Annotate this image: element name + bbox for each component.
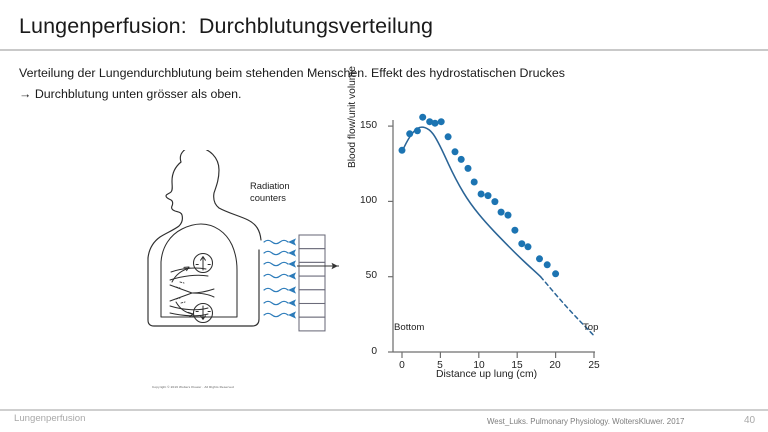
- footer-section-label: Lungenperfusion: [14, 413, 85, 424]
- radiation-counters-label-line-1: Radiation: [250, 180, 290, 192]
- footer-divider: [0, 409, 768, 411]
- title-divider: [0, 49, 768, 51]
- body-line-2: → Durchblutung unten grösser als oben.: [19, 84, 729, 105]
- body-line-1: Verteilung der Lungendurchblutung beim s…: [19, 63, 729, 84]
- chart-trend-line-solid: [402, 127, 541, 277]
- chart-data-points: [399, 114, 560, 278]
- chart-xtick-0: 0: [392, 360, 412, 371]
- footer-source-citation: West_Luks. Pulmonary Physiology. Wolters…: [487, 417, 684, 426]
- footer-page-number: 40: [744, 415, 755, 426]
- body-text: Verteilung der Lungendurchblutung beim s…: [19, 63, 729, 105]
- copyright-notice: Copyright © 2016 Wolters Kluwer · All Ri…: [152, 385, 234, 389]
- radiation-arrowheads: [288, 238, 296, 318]
- chart-annotation-top: Top: [583, 322, 598, 333]
- blood-flow-chart: [345, 112, 625, 387]
- chart-x-ticks: [402, 352, 594, 358]
- chart-ytick-100: 100: [351, 195, 377, 206]
- chart-ytick-50: 50: [351, 270, 377, 281]
- chart-xtick-25: 25: [584, 360, 604, 371]
- radiation-arrows-group: [264, 238, 296, 318]
- radiation-counters-label-line-2: counters: [250, 192, 290, 204]
- slide: Lungenperfusion: Durchblutungsverteilung…: [0, 0, 768, 432]
- chart-y-axis-label: Blood flow/unit volume: [347, 66, 358, 168]
- chart-y-ticks: [388, 126, 393, 352]
- radiation-counters-label: Radiation counters: [250, 180, 290, 203]
- human-figure-outline: [148, 150, 261, 326]
- chart-xtick-20: 20: [545, 360, 565, 371]
- radiation-counter-stack: [299, 235, 325, 331]
- chart-ytick-0: 0: [351, 346, 377, 357]
- lung-perfusion-diagram: [140, 150, 345, 350]
- page-title: Lungenperfusion: Durchblutungsverteilung: [19, 14, 433, 39]
- chart-x-axis-label: Distance up lung (cm): [436, 369, 537, 380]
- chart-annotation-bottom: Bottom: [394, 322, 424, 333]
- connector-arrow-icon: [297, 258, 349, 274]
